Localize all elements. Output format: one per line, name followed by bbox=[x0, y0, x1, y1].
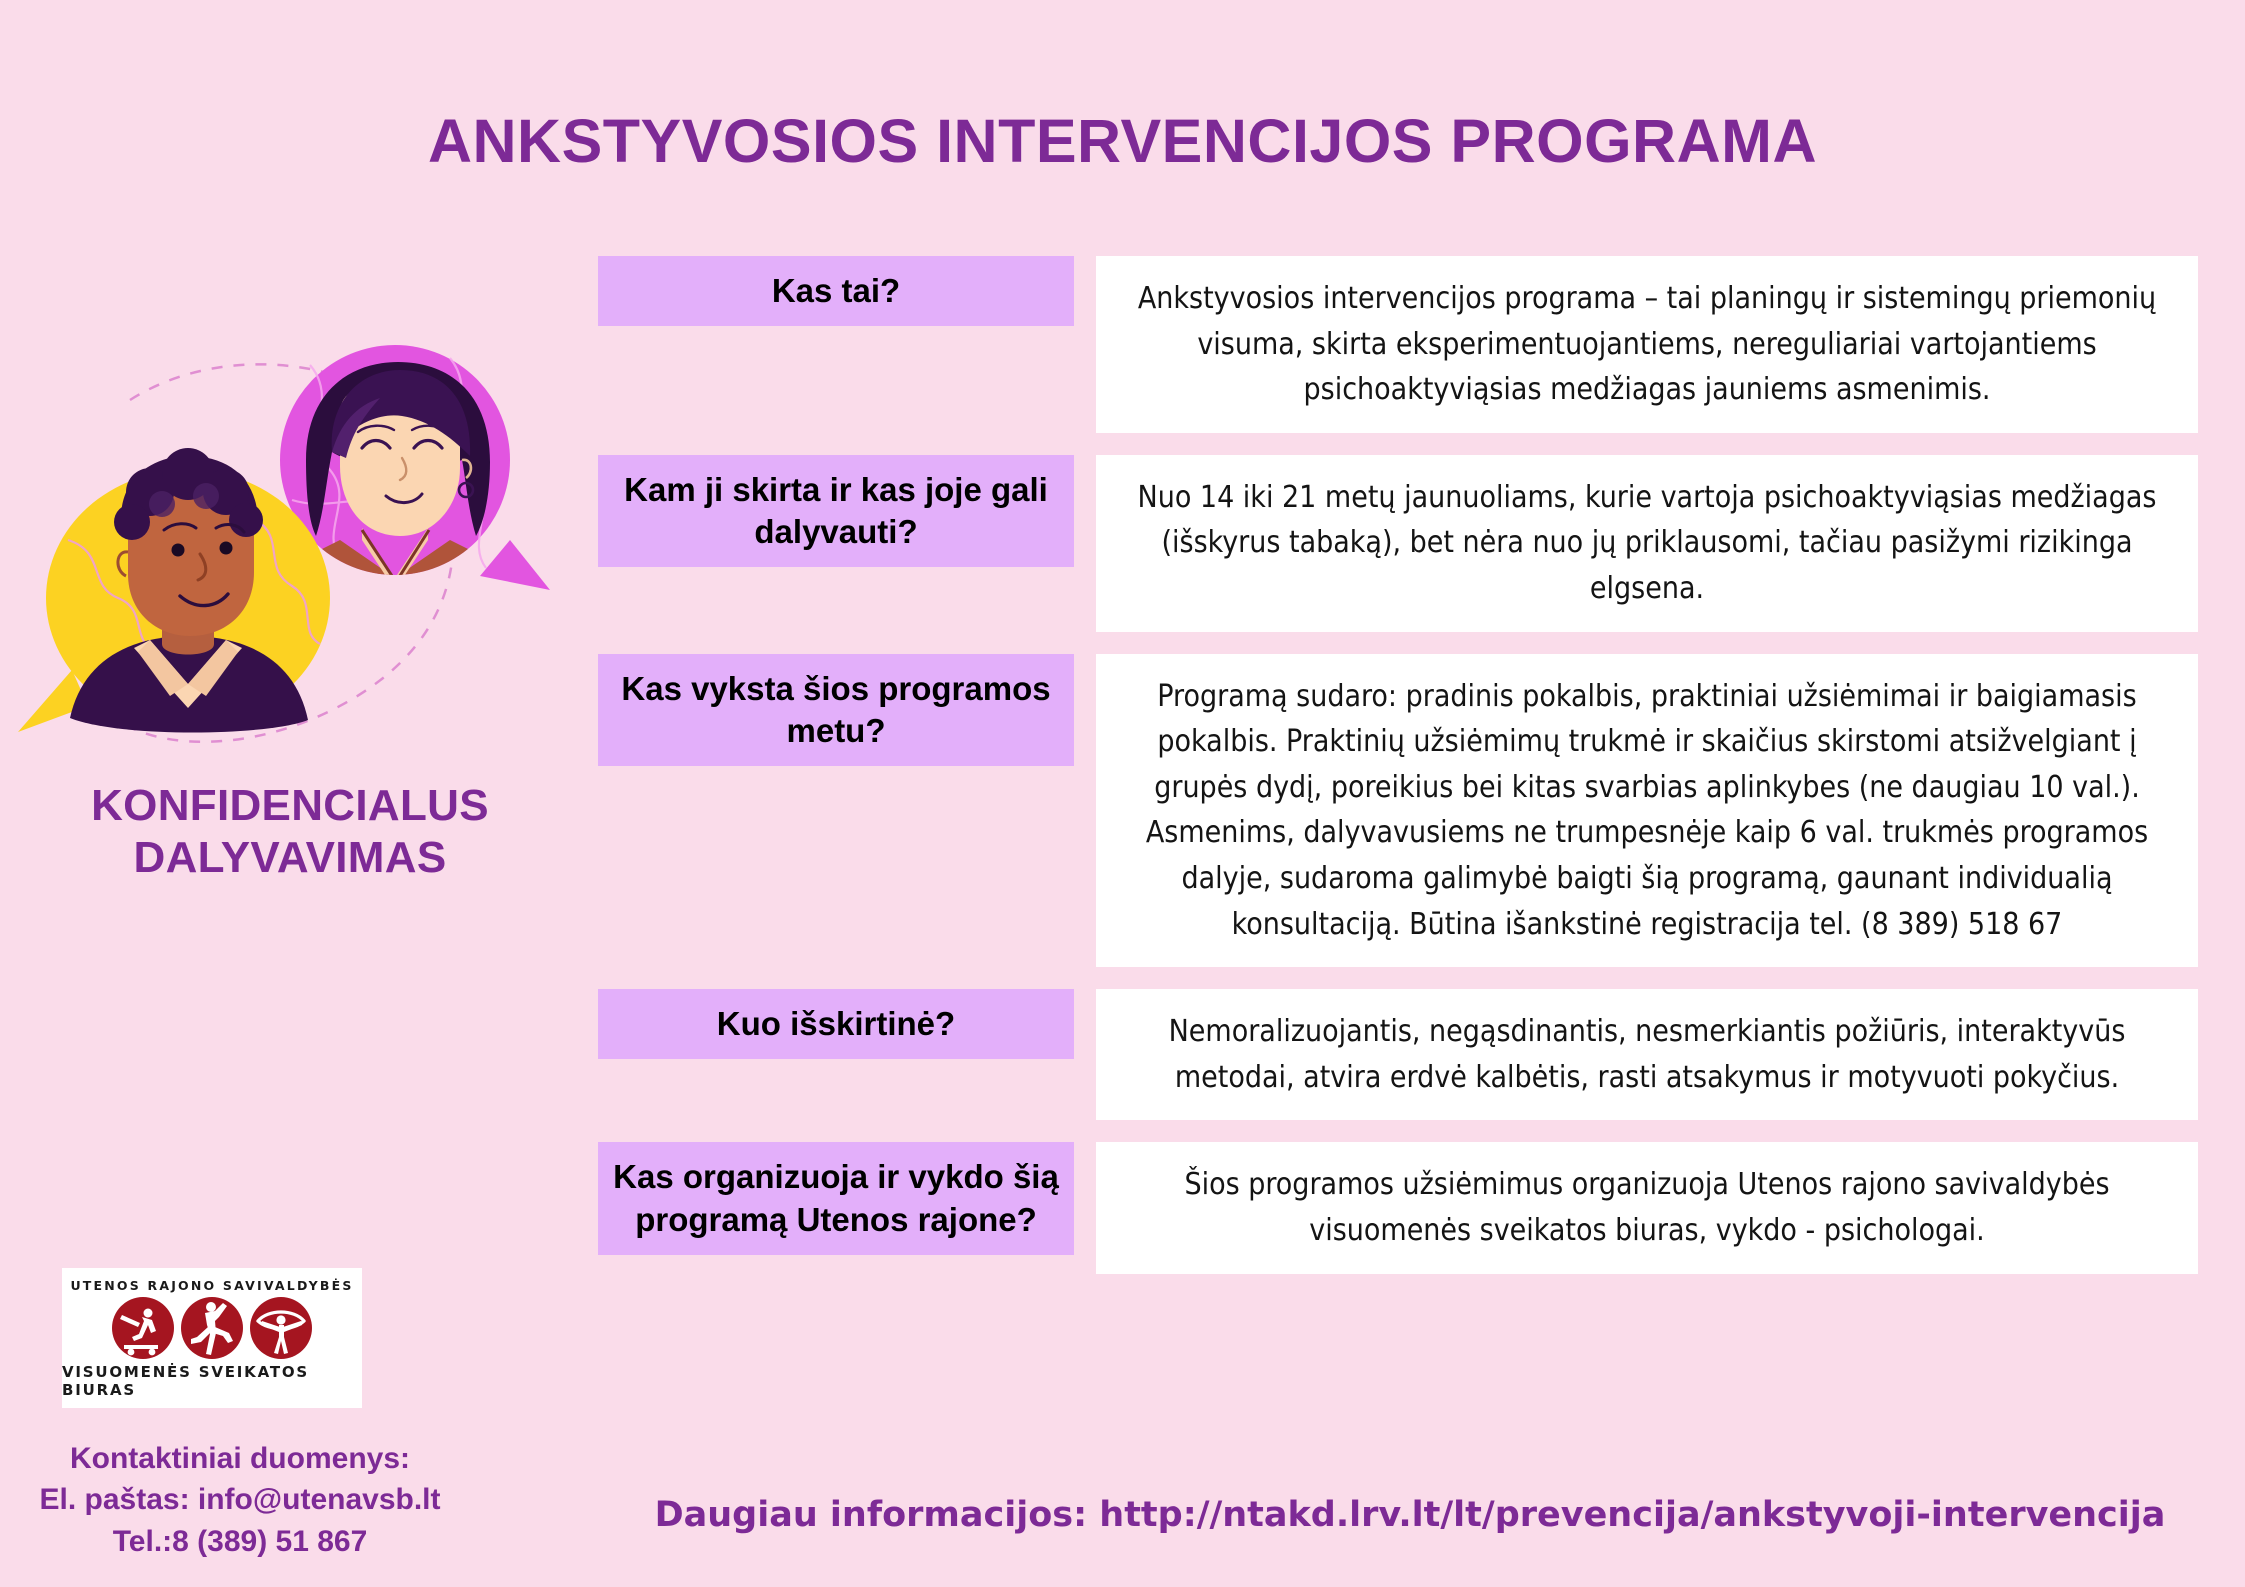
answer-box: Nemoralizuojantis, negąsdinantis, nesmer… bbox=[1096, 989, 2198, 1120]
logo-icon-group bbox=[112, 1297, 312, 1359]
poster-root: ANKSTYVOSIOS INTERVENCIJOS PROGRAMA bbox=[0, 0, 2245, 1587]
answer-box: Nuo 14 iki 21 metų jaunuoliams, kurie va… bbox=[1096, 455, 2198, 632]
runner-icon bbox=[181, 1297, 243, 1359]
contact-email[interactable]: El. paštas: info@utenavsb.lt bbox=[0, 1479, 480, 1520]
illustration-column: KONFIDENCIALUS DALYVAVIMAS bbox=[0, 340, 580, 884]
confidential-caption-line1: KONFIDENCIALUS bbox=[0, 780, 580, 832]
answer-box: Ankstyvosios intervencijos programa – ta… bbox=[1096, 256, 2198, 433]
logo-bottom-text: VISUOMENĖS SVEIKATOS BIURAS bbox=[62, 1363, 362, 1399]
two-people-speech-bubbles-illustration bbox=[10, 340, 570, 770]
stretching-person-icon bbox=[250, 1297, 312, 1359]
contact-block: Kontaktiniai duomenys: El. paštas: info@… bbox=[0, 1438, 480, 1562]
qa-row: Kas tai? Ankstyvosios intervencijos prog… bbox=[598, 256, 2198, 433]
answer-box: Programą sudaro: pradinis pokalbis, prak… bbox=[1096, 654, 2198, 968]
question-box: Kas vyksta šios programos metu? bbox=[598, 654, 1074, 766]
page-title: ANKSTYVOSIOS INTERVENCIJOS PROGRAMA bbox=[0, 106, 2245, 176]
qa-row: Kuo išskirtinė? Nemoralizuojantis, negąs… bbox=[598, 989, 2198, 1120]
confidential-caption-line2: DALYVAVIMAS bbox=[0, 832, 580, 884]
logo-top-text: UTENOS RAJONO SAVIVALDYBĖS bbox=[70, 1278, 353, 1293]
question-box: Kam ji skirta ir kas joje gali dalyvauti… bbox=[598, 455, 1074, 567]
qa-row: Kas vyksta šios programos metu? Programą… bbox=[598, 654, 2198, 968]
question-box: Kas tai? bbox=[598, 256, 1074, 326]
man-speech-bubble bbox=[18, 448, 330, 733]
question-box: Kas organizuoja ir vykdo šią programą Ut… bbox=[598, 1142, 1074, 1254]
answer-box: Šios programos užsiėmimus organizuoja Ut… bbox=[1096, 1142, 2198, 1273]
question-box: Kuo išskirtinė? bbox=[598, 989, 1074, 1059]
organization-logo: UTENOS RAJONO SAVIVALDYBĖS bbox=[62, 1268, 362, 1408]
contact-heading: Kontaktiniai duomenys: bbox=[0, 1438, 480, 1479]
more-info-link[interactable]: Daugiau informacijos: http://ntakd.lrv.l… bbox=[600, 1495, 2220, 1535]
skateboarder-icon bbox=[112, 1297, 174, 1359]
qa-list: Kas tai? Ankstyvosios intervencijos prog… bbox=[598, 256, 2198, 1296]
confidential-caption: KONFIDENCIALUS DALYVAVIMAS bbox=[0, 780, 580, 884]
contact-phone[interactable]: Tel.:8 (389) 51 867 bbox=[0, 1521, 480, 1562]
qa-row: Kas organizuoja ir vykdo šią programą Ut… bbox=[598, 1142, 2198, 1273]
qa-row: Kam ji skirta ir kas joje gali dalyvauti… bbox=[598, 455, 2198, 632]
